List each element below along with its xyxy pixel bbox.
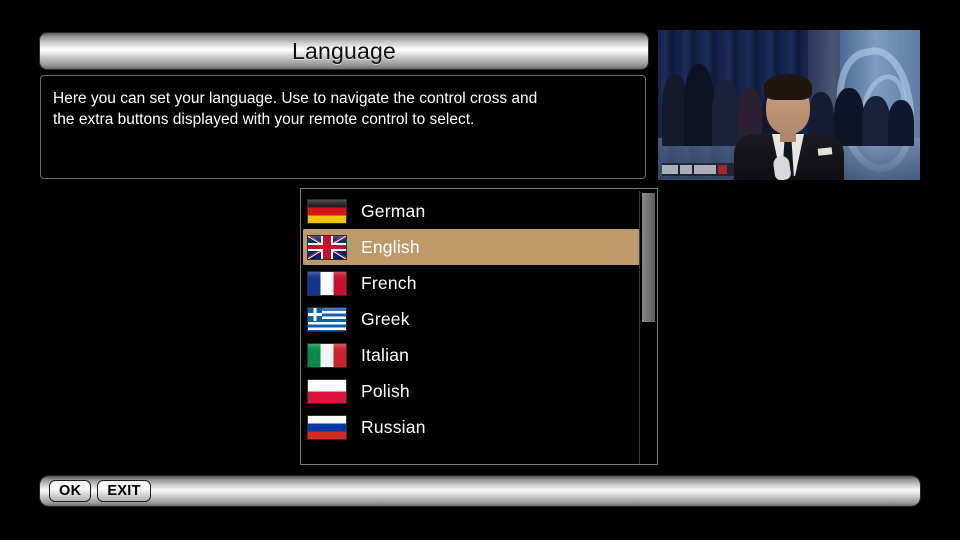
list-item-label: English bbox=[361, 237, 420, 258]
description-box: Here you can set your language. Use to n… bbox=[40, 75, 646, 179]
flag-greece-icon bbox=[307, 307, 347, 332]
flag-france-icon bbox=[307, 271, 347, 296]
page-title: Language bbox=[292, 38, 396, 65]
video-crowd-figure bbox=[834, 88, 864, 146]
list-item[interactable]: Polish bbox=[303, 373, 641, 409]
scrollbar-thumb[interactable] bbox=[642, 193, 655, 322]
video-crowd-figure bbox=[862, 96, 890, 146]
list-item-selected[interactable]: English bbox=[303, 229, 641, 265]
news-channel-logo bbox=[662, 163, 734, 176]
list-item-label: French bbox=[361, 273, 417, 294]
scrollbar-track[interactable] bbox=[639, 191, 655, 464]
video-preview[interactable] bbox=[658, 30, 920, 180]
video-reporter-hair bbox=[764, 74, 812, 100]
exit-button[interactable]: EXIT bbox=[97, 480, 150, 502]
list-item-label: Russian bbox=[361, 417, 426, 438]
video-crowd-figure bbox=[712, 80, 740, 146]
description-text: Here you can set your language. Use to n… bbox=[53, 88, 631, 130]
list-item-label: Greek bbox=[361, 309, 410, 330]
flag-italy-icon bbox=[307, 343, 347, 368]
language-list[interactable]: German English French Greek Italian Poli… bbox=[300, 188, 658, 465]
ok-button[interactable]: OK bbox=[49, 480, 91, 502]
video-crowd-figure bbox=[684, 64, 714, 146]
video-pocket-square bbox=[818, 147, 833, 155]
flag-poland-icon bbox=[307, 379, 347, 404]
bottom-button-bar: OK EXIT bbox=[40, 476, 920, 506]
list-item[interactable]: Russian bbox=[303, 409, 641, 445]
tv-settings-screen: Language Here you can set your language.… bbox=[0, 0, 960, 540]
list-item[interactable]: French bbox=[303, 265, 641, 301]
list-item-label: Italian bbox=[361, 345, 409, 366]
flag-united-kingdom-icon bbox=[307, 235, 347, 260]
list-item[interactable]: German bbox=[303, 193, 641, 229]
flag-germany-icon bbox=[307, 199, 347, 224]
list-item[interactable]: Greek bbox=[303, 301, 641, 337]
list-item[interactable]: Italian bbox=[303, 337, 641, 373]
window-title-bar: Language bbox=[40, 33, 648, 69]
list-item-label: Polish bbox=[361, 381, 410, 402]
flag-russia-icon bbox=[307, 415, 347, 440]
list-item-label: German bbox=[361, 201, 425, 222]
video-crowd-figure bbox=[888, 100, 914, 146]
